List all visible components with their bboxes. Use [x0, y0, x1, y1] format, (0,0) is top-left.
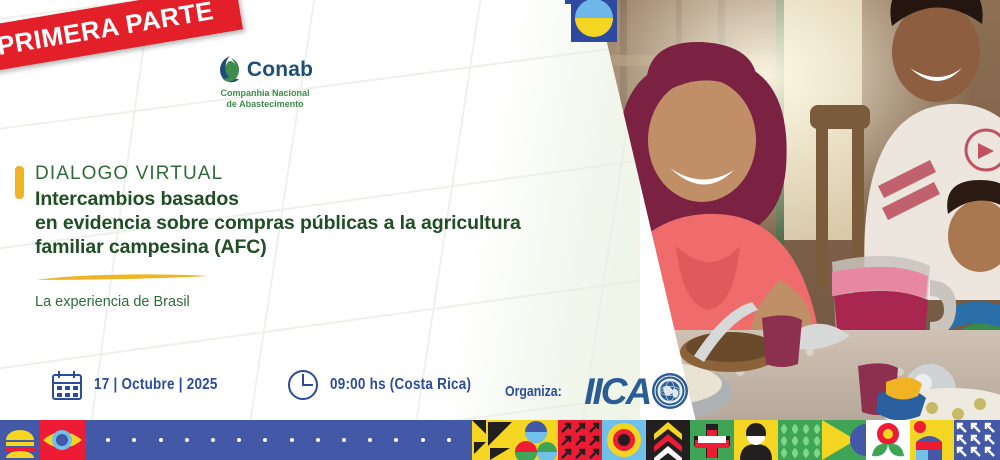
- clock-icon: [286, 368, 320, 402]
- headline-block: DIALOGO VIRTUAL Intercambios basados en …: [35, 163, 595, 310]
- title-line-3: familiar campesina (AFC): [35, 235, 595, 259]
- wheat-tile: [778, 420, 822, 460]
- conab-subtitle-line-1: Companhia Nacional: [205, 88, 325, 99]
- organizer-label: Organiza:: [505, 383, 562, 400]
- event-time: 09:00 hs (Costa Rica): [286, 368, 498, 402]
- globe-seal-icon: [651, 372, 689, 410]
- event-date-text: 17 | Octubre | 2025: [94, 376, 218, 394]
- iica-logo: IICA: [584, 372, 689, 410]
- iica-wordmark: IICA: [584, 373, 650, 410]
- chevrons-tile: [646, 420, 690, 460]
- title-line-1: Intercambios basados: [35, 187, 595, 211]
- flower-tile: [866, 420, 910, 460]
- triangles-tile: [472, 420, 514, 460]
- conab-wordmark: Conab: [247, 58, 313, 82]
- event-time-text: 09:00 hs (Costa Rica): [330, 376, 471, 394]
- circles-faces-tile: [514, 420, 558, 460]
- conab-logo: Conab Companhia Nacional de Abasteciment…: [205, 55, 325, 111]
- blue-circle-square-graphic: [565, 0, 623, 46]
- conab-subtitle-line-2: de Abastecimento: [205, 99, 325, 110]
- house-tile: [910, 420, 954, 460]
- event-date: 17 | Octubre | 2025: [50, 368, 241, 402]
- target-tile: [602, 420, 646, 460]
- event-details-row: 17 | Octubre | 2025 09:00 hs (Costa Rica…: [50, 368, 498, 402]
- brazil-flag-tile: [822, 420, 866, 460]
- page-title: Intercambios basados en evidencia sobre …: [35, 187, 595, 260]
- title-line-2: en evidencia sobre compras públicas a la…: [35, 211, 595, 235]
- decorative-footer-band: [0, 420, 1000, 460]
- event-type-label: DIALOGO VIRTUAL: [35, 163, 595, 185]
- poster-canvas: PRIMERA PARTE Conab Companhia Nacional d…: [0, 0, 1000, 460]
- arrows-tile: [558, 420, 602, 460]
- zigzag-arrows-tile: [954, 420, 1000, 460]
- yellow-brush-underline: [35, 273, 210, 282]
- yellow-accent-bar: [15, 166, 24, 199]
- subtitle: La experiencia de Brasil: [35, 294, 595, 310]
- eye-tile: [40, 420, 85, 460]
- person-tile: [734, 420, 778, 460]
- conab-leaf-icon: [217, 55, 243, 85]
- organizer-block: Organiza: IICA: [505, 372, 689, 410]
- dots-strip: [85, 420, 472, 460]
- burger-sun-tile: [0, 420, 40, 460]
- calendar-icon: [50, 368, 84, 402]
- cross-tile: [690, 420, 734, 460]
